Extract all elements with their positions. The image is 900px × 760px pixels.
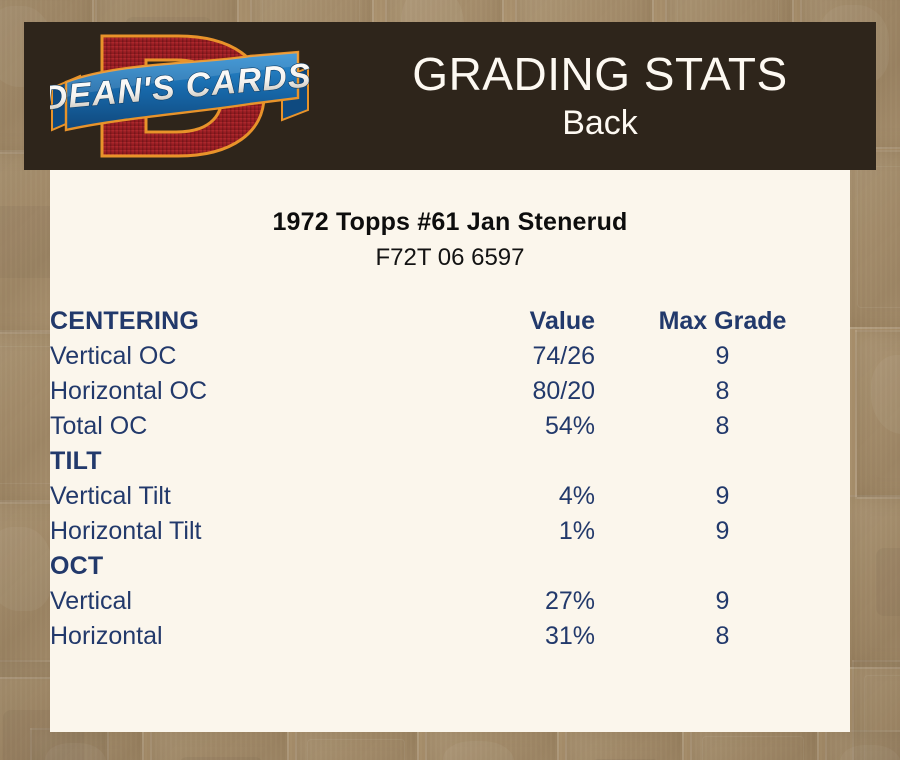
section-header-row: TILT [50, 444, 850, 479]
stat-max-grade: 9 [595, 514, 850, 549]
empty-cell [420, 549, 595, 584]
table-row: Vertical OC74/269 [50, 339, 850, 374]
stat-max-grade: 9 [595, 584, 850, 619]
grading-stats-table: CENTERING Value Max Grade Vertical OC74/… [50, 304, 850, 654]
section-header-oct: OCT [50, 549, 420, 584]
header-bar: DEAN'S CARDS GRADING STATS Back [24, 22, 876, 170]
stat-value: 74/26 [420, 339, 595, 374]
stat-value: 54% [420, 409, 595, 444]
content-panel: 1972 Topps #61 Jan Stenerud F72T 06 6597… [50, 170, 850, 732]
stat-value: 4% [420, 479, 595, 514]
deans-cards-logo[interactable]: DEAN'S CARDS [50, 26, 310, 166]
stat-label: Horizontal Tilt [50, 514, 420, 549]
stat-max-grade: 8 [595, 409, 850, 444]
table-row: Horizontal31%8 [50, 619, 850, 654]
column-header-value: Value [420, 304, 595, 339]
stat-value: 31% [420, 619, 595, 654]
table-row: Total OC54%8 [50, 409, 850, 444]
table-header-row: CENTERING Value Max Grade [50, 304, 850, 339]
stat-label: Vertical [50, 584, 420, 619]
table-body: Vertical OC74/269Horizontal OC80/208Tota… [50, 339, 850, 654]
table-row: Horizontal Tilt1%9 [50, 514, 850, 549]
table-row: Vertical27%9 [50, 584, 850, 619]
stat-value: 27% [420, 584, 595, 619]
stat-label: Vertical OC [50, 339, 420, 374]
table-header: CENTERING Value Max Grade [50, 304, 850, 339]
stat-max-grade: 8 [595, 619, 850, 654]
column-header-section: CENTERING [50, 304, 420, 339]
empty-cell [420, 444, 595, 479]
card-serial-number: F72T 06 6597 [50, 244, 850, 272]
logo-icon: DEAN'S CARDS [50, 26, 310, 166]
stat-max-grade: 9 [595, 479, 850, 514]
stat-label: Vertical Tilt [50, 479, 420, 514]
stat-max-grade: 8 [595, 374, 850, 409]
stat-value: 1% [420, 514, 595, 549]
stat-label: Total OC [50, 409, 420, 444]
header-title-group: GRADING STATS Back [324, 22, 876, 170]
page-subtitle: Back [562, 102, 638, 144]
stat-label: Horizontal [50, 619, 420, 654]
page-title: GRADING STATS [412, 48, 787, 100]
column-header-max-grade: Max Grade [595, 304, 850, 339]
empty-cell [595, 444, 850, 479]
empty-cell [595, 549, 850, 584]
stat-max-grade: 9 [595, 339, 850, 374]
section-header-row: OCT [50, 549, 850, 584]
stat-label: Horizontal OC [50, 374, 420, 409]
section-header-tilt: TILT [50, 444, 420, 479]
table-row: Horizontal OC80/208 [50, 374, 850, 409]
card-title: 1972 Topps #61 Jan Stenerud [50, 208, 850, 237]
table-row: Vertical Tilt4%9 [50, 479, 850, 514]
stat-value: 80/20 [420, 374, 595, 409]
